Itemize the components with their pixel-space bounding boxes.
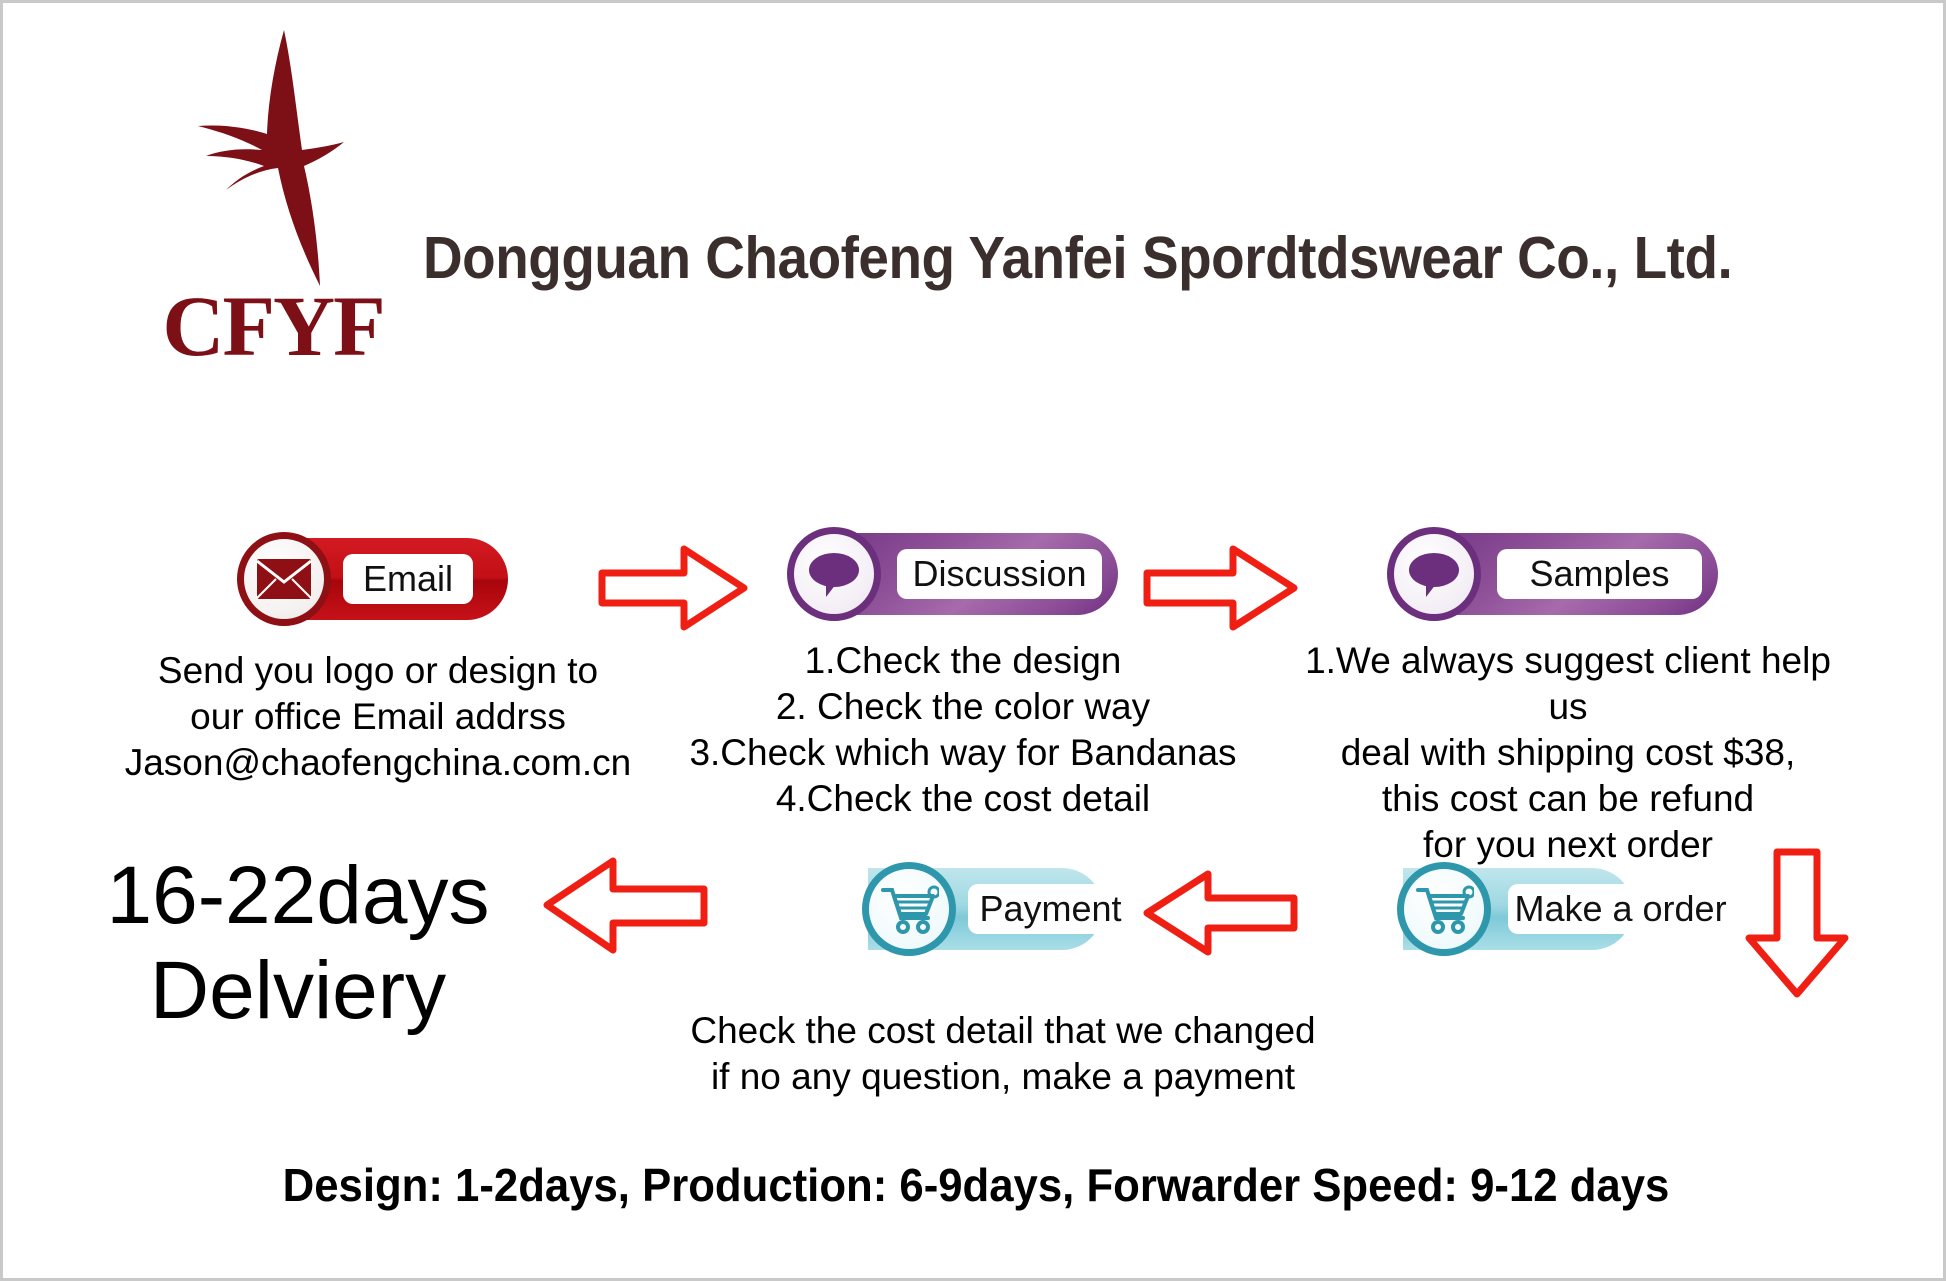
envelope-icon	[256, 558, 312, 600]
email-icon-circle	[237, 532, 331, 626]
step-label-samples: Samples	[1497, 549, 1702, 599]
arrow-right-icon-1	[598, 543, 748, 633]
step-badge-email[interactable]: Email	[243, 538, 508, 620]
make-a-order-icon-circle	[1397, 862, 1491, 956]
step-label-email: Email	[343, 554, 473, 604]
step-label-make-a-order: Make a order	[1508, 884, 1733, 934]
shopping-cart-icon	[1414, 884, 1474, 934]
arrow-down-icon	[1743, 848, 1853, 998]
arrow-right-icon-2	[1143, 543, 1298, 633]
company-logo: CFYF	[138, 28, 408, 368]
shopping-cart-icon	[879, 884, 939, 934]
speech-bubble-icon	[806, 549, 862, 599]
step-badge-discussion[interactable]: Discussion	[793, 533, 1118, 615]
flying-bird-icon	[178, 28, 368, 293]
step-label-payment: Payment	[968, 884, 1133, 934]
step-description-email: Send you logo or design to our office Em…	[113, 648, 643, 786]
discussion-icon-circle	[787, 527, 881, 621]
process-flow-infographic: CFYF Dongguan Chaofeng Yanfei Spordtdswe…	[0, 0, 1946, 1281]
step-description-discussion: 1.Check the design 2. Check the color wa…	[653, 638, 1273, 822]
footer-lead-time-note: Design: 1-2days, Production: 6-9days, Fo…	[52, 1158, 1901, 1212]
arrow-left-icon-1	[1143, 868, 1298, 958]
step-badge-payment[interactable]: Payment	[868, 868, 1103, 950]
step-label-discussion: Discussion	[897, 549, 1102, 599]
company-title: Dongguan Chaofeng Yanfei Spordtdswear Co…	[423, 228, 1732, 288]
delivery-time-text: 16-22days Delviery	[73, 848, 523, 1038]
header: CFYF Dongguan Chaofeng Yanfei Spordtdswe…	[3, 3, 1946, 363]
payment-icon-circle	[862, 862, 956, 956]
step-description-samples: 1.We always suggest client help us deal …	[1283, 638, 1853, 868]
step-badge-samples[interactable]: Samples	[1393, 533, 1718, 615]
step-description-payment: Check the cost detail that we changed if…	[683, 1008, 1323, 1100]
step-badge-make-a-order[interactable]: Make a order	[1403, 868, 1633, 950]
samples-icon-circle	[1387, 527, 1481, 621]
logo-wordmark: CFYF	[138, 283, 408, 369]
speech-bubble-icon	[1406, 549, 1462, 599]
arrow-left-icon-2	[543, 853, 708, 958]
